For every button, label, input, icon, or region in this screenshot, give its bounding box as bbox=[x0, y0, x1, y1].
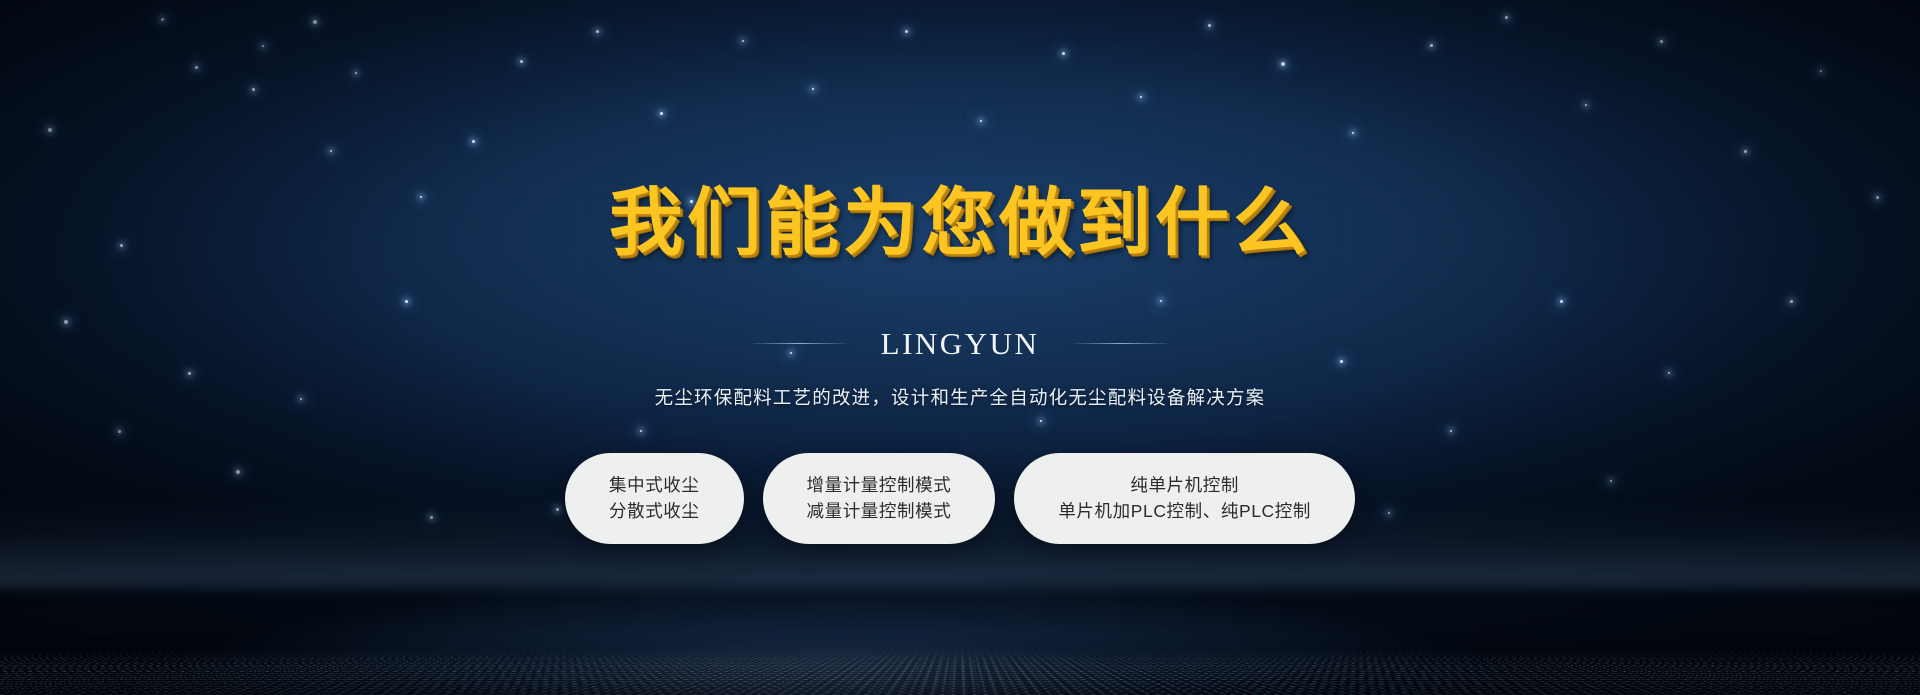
pill-line: 纯单片机控制 bbox=[1130, 476, 1239, 495]
pill-line: 单片机加PLC控制、纯PLC控制 bbox=[1058, 502, 1311, 521]
feature-pill-metering-mode[interactable]: 增量计量控制模式 减量计量控制模式 bbox=[763, 453, 996, 544]
pill-line: 分散式收尘 bbox=[609, 502, 700, 521]
feature-pill-list: 集中式收尘 分散式收尘 增量计量控制模式 减量计量控制模式 纯单片机控制 单片机… bbox=[565, 453, 1355, 544]
divider-line-right bbox=[1073, 343, 1169, 344]
hero-banner: 我们能为您做到什么 LINGYUN 无尘环保配料工艺的改进，设计和生产全自动化无… bbox=[0, 0, 1920, 695]
pill-line: 集中式收尘 bbox=[609, 476, 700, 495]
brand-name: LINGYUN bbox=[881, 326, 1040, 362]
banner-content: 我们能为您做到什么 LINGYUN 无尘环保配料工艺的改进，设计和生产全自动化无… bbox=[0, 0, 1920, 695]
feature-pill-control-system[interactable]: 纯单片机控制 单片机加PLC控制、纯PLC控制 bbox=[1014, 453, 1355, 544]
feature-pill-dust-collection[interactable]: 集中式收尘 分散式收尘 bbox=[565, 453, 744, 544]
pill-line: 减量计量控制模式 bbox=[807, 502, 952, 521]
brand-row: LINGYUN bbox=[751, 326, 1170, 362]
page-title: 我们能为您做到什么 bbox=[609, 186, 1311, 260]
divider-line-left bbox=[751, 343, 847, 344]
pill-line: 增量计量控制模式 bbox=[807, 476, 952, 495]
banner-description: 无尘环保配料工艺的改进，设计和生产全自动化无尘配料设备解决方案 bbox=[655, 384, 1266, 410]
